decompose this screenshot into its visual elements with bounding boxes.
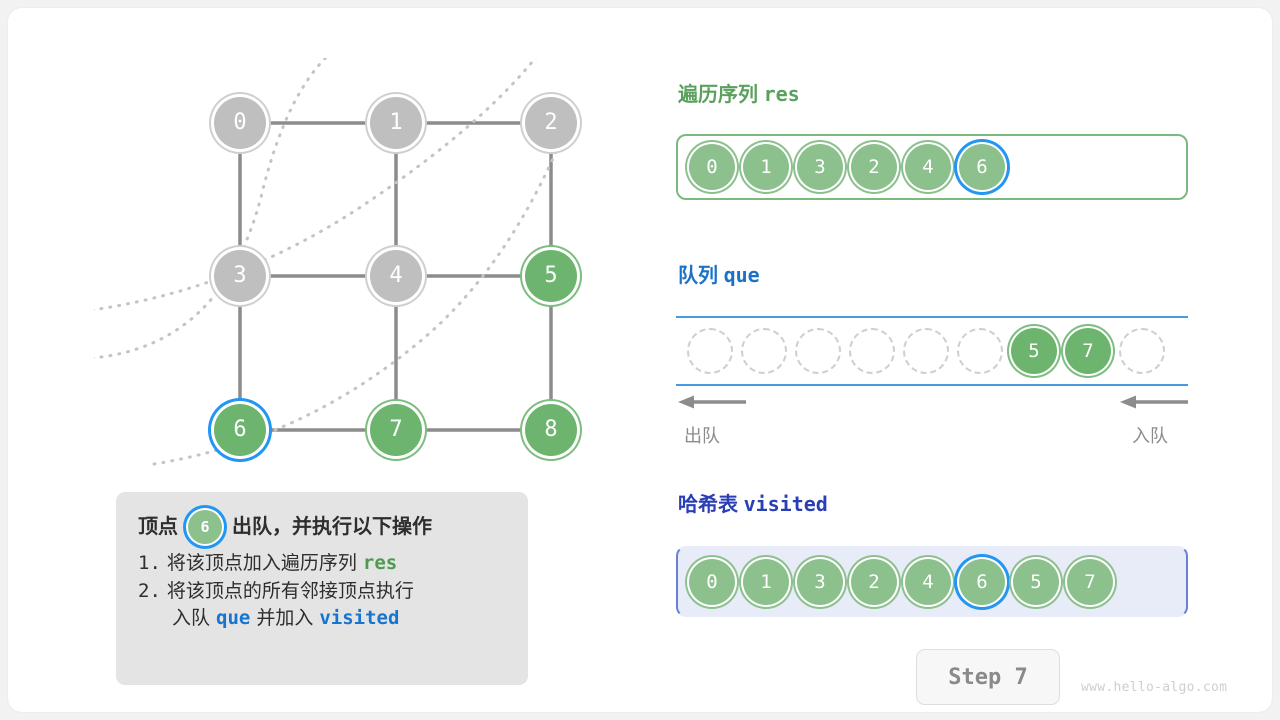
visited-cell-4[interactable]: 4 [905,559,951,605]
step-badge-label: Step 7 [948,665,1027,690]
queue-track: 57 [676,316,1188,386]
visited-cell-2[interactable]: 2 [851,559,897,605]
caption-step-2-continued: 入队 que 并加入 visited [138,605,506,633]
caption-heading: 顶点 6 出队，并执行以下操作 [138,510,506,544]
graph-node-label: 2 [544,110,557,135]
res-cell-6[interactable]: 6 [959,144,1005,190]
visited-cell-3[interactable]: 3 [797,559,843,605]
visited-cell-6[interactable]: 6 [959,559,1005,605]
caption-step-2-number: 2. [138,578,161,606]
res-cell-2[interactable]: 2 [851,144,897,190]
queue-cell-empty-3[interactable] [849,328,895,374]
res-cell-3[interactable]: 3 [797,144,843,190]
enqueue-label: 入队 [1132,422,1168,448]
caption-step-2-before: 入队 [172,605,210,633]
caption-step-1-text: 将该顶点加入遍历序列 [167,550,357,578]
graph-edges-layer [94,58,564,488]
caption-step-2-code-visited: visited [319,605,399,633]
caption-step-1-number: 1. [138,550,161,578]
visited-panel-title-code: visited [744,492,828,516]
graph-node-6[interactable]: 6 [214,404,266,456]
watermark: www.hello-algo.com [1081,680,1227,695]
graph-node-label: 8 [544,417,557,442]
visited-cell-7[interactable]: 7 [1067,559,1113,605]
queue-cell-7[interactable]: 7 [1065,328,1111,374]
caption-vertex-label: 6 [200,520,209,535]
dequeue-label: 出队 [684,422,720,448]
caption-vertex-chip: 6 [188,510,222,544]
graph-node-2[interactable]: 2 [525,97,577,149]
queue-cell-empty-1[interactable] [741,328,787,374]
graph-node-5[interactable]: 5 [525,250,577,302]
caption-step-2-code-que: que [216,605,250,633]
queue-cell-empty-5[interactable] [957,328,1003,374]
graph-node-1[interactable]: 1 [370,97,422,149]
res-cell-1[interactable]: 1 [743,144,789,190]
queue-panel-title: 队列 que [678,265,760,286]
graph-node-label: 4 [389,263,402,288]
res-panel-title-code: res [764,82,800,106]
visited-set-container: 01324657 [676,546,1188,617]
caption-suffix: 出队，并执行以下操作 [232,517,432,537]
visited-cell-0[interactable]: 0 [689,559,735,605]
caption-step-1: 1. 将该顶点加入遍历序列 res [138,550,506,578]
caption-prefix: 顶点 [138,517,178,537]
res-panel-title-text: 遍历序列 [678,84,758,106]
queue-cell-empty-0[interactable] [687,328,733,374]
graph-node-label: 5 [544,263,557,288]
graph-node-7[interactable]: 7 [370,404,422,456]
visited-panel-title: 哈希表 visited [678,494,828,515]
graph-node-label: 7 [389,417,402,442]
graph-node-label: 6 [233,417,246,442]
enqueue-arrow-icon [1118,394,1190,410]
graph-node-label: 3 [233,263,246,288]
bfs-wavefront-curve [94,58,342,358]
res-cell-0[interactable]: 0 [689,144,735,190]
caption-step-1-code-res: res [363,550,397,578]
graph-node-label: 1 [389,110,402,135]
visited-panel-title-text: 哈希表 [678,494,738,516]
queue-panel-title-code: que [724,263,760,287]
queue-cell-5[interactable]: 5 [1011,328,1057,374]
bfs-wavefront-curve [94,58,546,310]
caption-step-2-text: 将该顶点的所有邻接顶点执行 [167,578,414,606]
graph-node-8[interactable]: 8 [525,404,577,456]
graph-node-3[interactable]: 3 [214,250,266,302]
res-cell-4[interactable]: 4 [905,144,951,190]
dequeue-arrow-icon [676,394,748,410]
queue-cell-empty-8[interactable] [1119,328,1165,374]
graph-diagram: 012345678 [94,58,564,488]
graph-node-label: 0 [233,110,246,135]
caption-step-2-mid: 并加入 [256,605,313,633]
content-card: 012345678 顶点 6 出队，并执行以下操作 1. 将该顶点加入遍历序列 … [8,8,1272,712]
queue-cell-empty-4[interactable] [903,328,949,374]
step-badge: Step 7 [916,649,1060,705]
caption-step-2: 2. 将该顶点的所有邻接顶点执行 [138,578,506,606]
graph-node-0[interactable]: 0 [214,97,266,149]
res-panel-title: 遍历序列 res [678,84,800,105]
graph-node-4[interactable]: 4 [370,250,422,302]
queue-panel-title-text: 队列 [678,265,718,287]
visited-cell-5[interactable]: 5 [1013,559,1059,605]
res-sequence-container: 013246 [676,134,1188,200]
page-background: 012345678 顶点 6 出队，并执行以下操作 1. 将该顶点加入遍历序列 … [0,0,1280,720]
queue-cell-empty-2[interactable] [795,328,841,374]
operation-caption: 顶点 6 出队，并执行以下操作 1. 将该顶点加入遍历序列 res 2. 将该顶… [116,492,528,685]
visited-cell-1[interactable]: 1 [743,559,789,605]
